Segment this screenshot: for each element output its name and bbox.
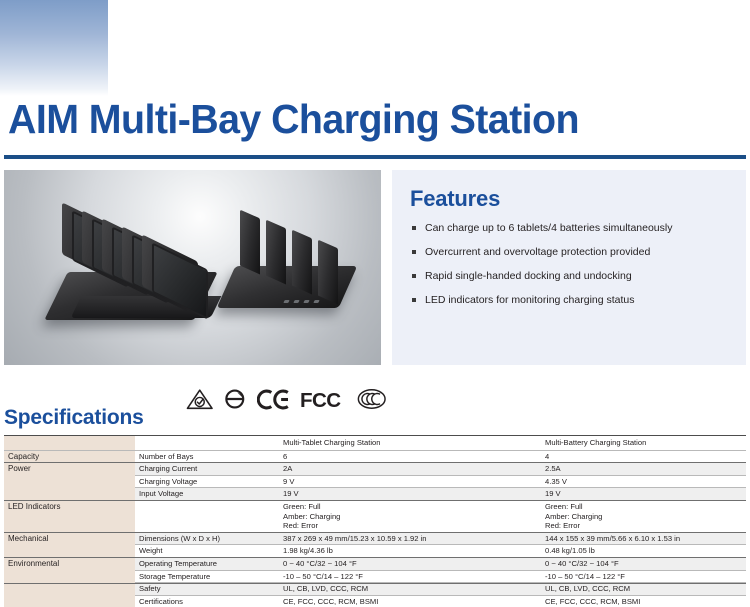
row-param: Charging Current (135, 463, 279, 476)
page-title: AIM Multi-Bay Charging Station (8, 93, 579, 145)
table-row: Mechanical Dimensions (W x D x H) 387 x … (4, 532, 746, 545)
row-value-battery: 4 (541, 450, 746, 463)
feature-item: Rapid single-handed docking and undockin… (412, 270, 732, 283)
row-param: Dimensions (W x D x H) (135, 532, 279, 545)
row-value-tablet: Green: Full Amber: Charging Red: Error (279, 500, 541, 532)
row-group-power: Power (4, 463, 135, 501)
row-value-tablet: UL, CB, LVD, CCC, RCM (279, 583, 541, 596)
row-param: Weight (135, 545, 279, 558)
header-cell-group (4, 436, 135, 451)
row-value-tablet: 19 V (279, 488, 541, 501)
row-param: Input Voltage (135, 488, 279, 501)
row-group-capacity: Capacity (4, 450, 135, 463)
row-value-tablet: 387 x 269 x 49 mm/15.23 x 10.59 x 1.92 i… (279, 532, 541, 545)
fcc-icon: FCC (300, 388, 345, 411)
header-cell-tablet: Multi-Tablet Charging Station (279, 436, 541, 451)
row-param: Charging Voltage (135, 475, 279, 488)
row-value-tablet: 2A (279, 463, 541, 476)
row-value-battery: CE, FCC, CCC, RCM, BSMI (541, 595, 746, 607)
row-value-battery: 4.35 V (541, 475, 746, 488)
ce-icon (257, 388, 289, 411)
row-param: Number of Bays (135, 450, 279, 463)
row-param: Certifications (135, 595, 279, 607)
specifications-table: Multi-Tablet Charging Station Multi-Batt… (4, 435, 746, 607)
title-divider (4, 155, 746, 159)
row-param: Safety (135, 583, 279, 596)
row-param (135, 500, 279, 532)
feature-item: LED indicators for monitoring charging s… (412, 294, 732, 307)
feature-item: Can charge up to 6 tablets/4 batteries s… (412, 222, 732, 235)
row-value-battery: -10 – 50 °C/14 – 122 °F (541, 570, 746, 583)
row-value-battery: Green: Full Amber: Charging Red: Error (541, 500, 746, 532)
header-accent-block (0, 0, 108, 96)
row-value-tablet: 0 ~ 40 °C/32 ~ 104 °F (279, 557, 541, 570)
table-header-row: Multi-Tablet Charging Station Multi-Batt… (4, 436, 746, 451)
table-row: Power Charging Current 2A 2.5A (4, 463, 746, 476)
battery-dock-illustration (226, 212, 356, 322)
row-value-tablet: 9 V (279, 475, 541, 488)
ccc-icon (357, 388, 386, 410)
specifications-body: Multi-Tablet Charging Station Multi-Batt… (4, 436, 746, 607)
row-value-tablet: CE, FCC, CCC, RCM, BSMI (279, 595, 541, 607)
feature-item: Overcurrent and overvoltage protection p… (412, 246, 732, 259)
row-value-tablet: 6 (279, 450, 541, 463)
row-value-battery: 144 x 155 x 39 mm/5.66 x 6.10 x 1.53 in (541, 532, 746, 545)
header-cell-param (135, 436, 279, 451)
row-param: Storage Temperature (135, 570, 279, 583)
table-row: LED Indicators Green: Full Amber: Chargi… (4, 500, 746, 532)
row-value-tablet: -10 – 50 °C/14 – 122 °F (279, 570, 541, 583)
row-group-led-indicators: LED Indicators (4, 500, 135, 532)
tablet-dock-illustration (56, 210, 214, 330)
features-heading: Features (392, 170, 746, 212)
certification-logos: FCC (186, 384, 386, 414)
header-cell-battery: Multi-Battery Charging Station (541, 436, 746, 451)
table-bottom-rule (4, 583, 746, 584)
svg-text:FCC: FCC (300, 388, 341, 410)
row-value-battery: 2.5A (541, 463, 746, 476)
table-row: Environmental Operating Temperature 0 ~ … (4, 557, 746, 570)
features-panel: Features Can charge up to 6 tablets/4 ba… (392, 170, 746, 365)
features-list: Can charge up to 6 tablets/4 batteries s… (392, 222, 746, 307)
lvd-icon (224, 388, 246, 410)
specifications-heading: Specifications (4, 406, 144, 430)
row-value-battery: 19 V (541, 488, 746, 501)
table-row: Capacity Number of Bays 6 4 (4, 450, 746, 463)
product-photo (4, 170, 381, 365)
rcm-icon (186, 388, 213, 410)
row-value-battery: 0 ~ 40 °C/32 ~ 104 °F (541, 557, 746, 570)
row-value-battery: 0.48 kg/1.05 lb (541, 545, 746, 558)
row-value-battery: UL, CB, LVD, CCC, RCM (541, 583, 746, 596)
row-value-tablet: 1.98 kg/4.36 lb (279, 545, 541, 558)
row-param: Operating Temperature (135, 557, 279, 570)
title-area: AIM Multi-Bay Charging Station (0, 95, 750, 157)
row-group-mechanical: Mechanical (4, 532, 135, 557)
